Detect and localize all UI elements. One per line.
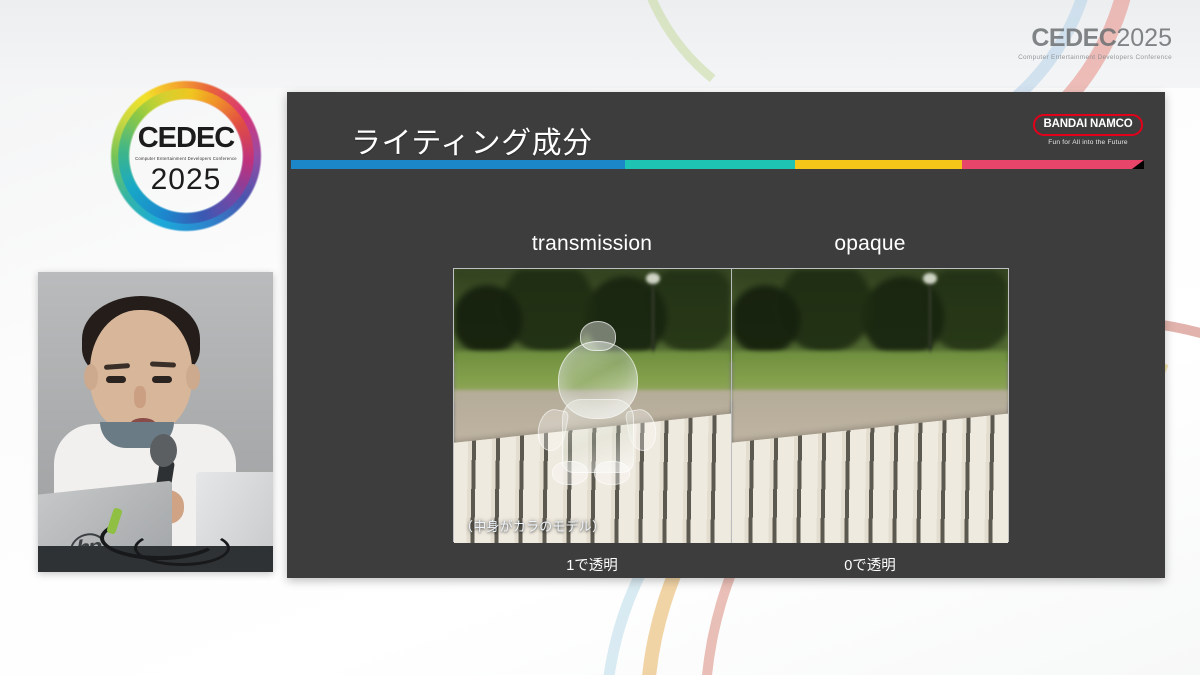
cedec-wordmark-main: CEDEC2025: [1018, 26, 1172, 51]
slide-accent-rule: [291, 160, 1151, 169]
scene-lamppost-2: [928, 280, 932, 357]
cedec-round-logo-year: 2025: [120, 165, 252, 195]
screenshot-transmission: （中身がカラのモデル）: [454, 269, 731, 543]
cedec-wordmark-year: 2025: [1116, 24, 1172, 52]
presenter-ear-right: [186, 364, 200, 390]
bandai-namco-tagline: Fun for All into the Future: [1033, 139, 1143, 146]
presenter-head: [90, 310, 192, 434]
cedec-wordmark-subtitle: Computer Entertainment Developers Confer…: [1018, 54, 1172, 61]
cable-loop-2: [134, 530, 230, 566]
bandai-namco-logo: BANDAI NAMCO Fun for All into the Future: [1033, 114, 1143, 146]
rule-segment-blue: [291, 160, 625, 169]
bandai-namco-name: BANDAI NAMCO: [1033, 114, 1143, 136]
presenter-nose: [134, 386, 146, 408]
cedec-round-logo-text: CEDEC Computer Entertainment Developers …: [120, 124, 252, 195]
cedec-wordmark-name: CEDEC: [1031, 24, 1116, 52]
comparison-captions: 1で透明 0で透明: [453, 554, 1009, 575]
caption-transmission: 1で透明: [453, 554, 731, 575]
transparent-character-model: [536, 315, 658, 475]
slide-title: ライティング成分: [351, 118, 593, 162]
presenter-ear-left: [84, 364, 98, 390]
model-foot-right: [594, 461, 630, 485]
label-transmission: transmission: [453, 232, 731, 256]
cedec-round-logo: CEDEC Computer Entertainment Developers …: [98, 96, 276, 222]
screenshot-overlay-note: （中身がカラのモデル）: [460, 516, 605, 535]
rule-segment-teal: [625, 160, 795, 169]
presentation-slide[interactable]: ライティング成分 BANDAI NAMCO Fun for All into t…: [287, 92, 1165, 578]
scene-trees-2: [732, 269, 1008, 362]
model-head: [558, 341, 638, 419]
microphone-head-icon: [150, 434, 177, 467]
model-cap: [580, 321, 616, 351]
model-foot-left: [552, 461, 588, 485]
comparison-images: （中身がカラのモデル）: [453, 268, 1009, 542]
label-opaque: opaque: [731, 232, 1009, 256]
cedec-wordmark-logo: CEDEC2025 Computer Entertainment Develop…: [1018, 26, 1172, 61]
rule-segment-red: [962, 160, 1132, 169]
presenter-eye-right: [152, 376, 172, 383]
cedec-round-logo-main: CEDEC: [120, 124, 252, 153]
caption-opaque: 0で透明: [731, 554, 1009, 575]
rule-segment-yellow: [795, 160, 962, 169]
screenshot-opaque: [731, 269, 1008, 543]
cedec-round-logo-subtitle: Computer Entertainment Developers Confer…: [120, 156, 252, 161]
presenter-video-panel[interactable]: hp: [38, 272, 273, 572]
rule-segment-tail: [1132, 160, 1144, 169]
presenter-eye-left: [106, 376, 126, 383]
comparison-labels: transmission opaque: [453, 232, 1009, 256]
